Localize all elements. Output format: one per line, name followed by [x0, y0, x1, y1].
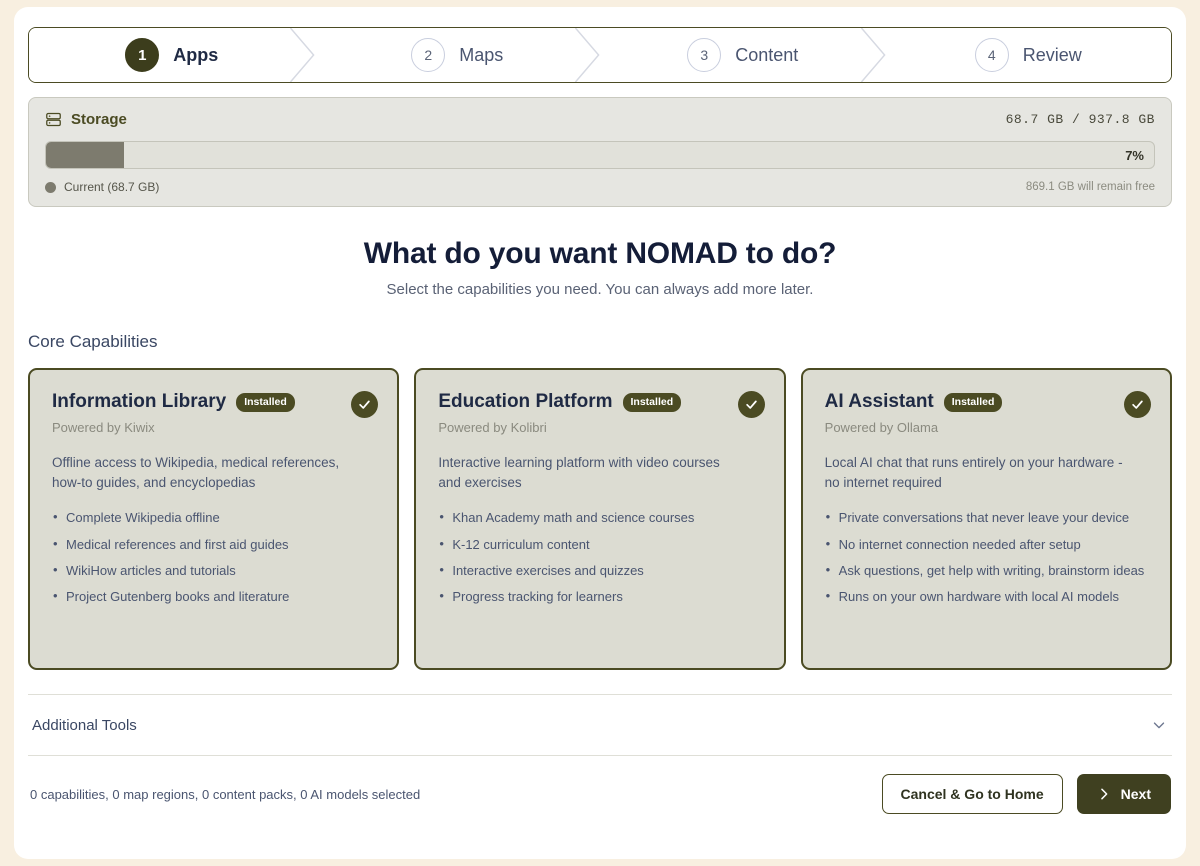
step-label: Review — [1023, 45, 1082, 66]
step-chevron-icon — [861, 28, 887, 82]
card-title: Education Platform — [438, 392, 612, 413]
wizard-footer: 0 capabilities, 0 map regions, 0 content… — [28, 774, 1172, 814]
storage-icon — [45, 111, 62, 128]
capability-card-grid: Information Library Installed Powered by… — [28, 368, 1172, 670]
footer-actions: Cancel & Go to Home Next — [882, 774, 1172, 814]
card-feature-item: Khan Academy math and science courses — [438, 509, 763, 527]
card-feature-item: Progress tracking for learners — [438, 588, 763, 606]
storage-panel: Storage 68.7 GB / 937.8 GB 7% Current (6… — [28, 97, 1172, 207]
step-maps[interactable]: 2 Maps — [315, 28, 601, 82]
storage-header: Storage — [45, 111, 127, 128]
card-feature-item: Runs on your own hardware with local AI … — [825, 588, 1150, 606]
additional-tools-label: Additional Tools — [32, 717, 137, 734]
step-chevron-icon — [575, 28, 601, 82]
capability-card-education-platform[interactable]: Education Platform Installed Powered by … — [414, 368, 785, 670]
card-powered-by: Powered by Kiwix — [52, 420, 377, 435]
step-number: 3 — [687, 38, 721, 72]
selected-check-icon[interactable] — [351, 391, 378, 418]
storage-progress-percent: 7% — [1125, 142, 1144, 168]
chevron-down-icon[interactable] — [1150, 716, 1168, 734]
card-feature-item: WikiHow articles and tutorials — [52, 562, 377, 580]
card-powered-by: Powered by Kolibri — [438, 420, 763, 435]
step-label: Apps — [173, 45, 218, 66]
wizard-page: 1 Apps 2 Maps 3 Content 4 Review — [14, 7, 1186, 859]
cancel-go-home-button[interactable]: Cancel & Go to Home — [882, 774, 1063, 814]
step-number: 2 — [411, 38, 445, 72]
card-feature-item: Medical references and first aid guides — [52, 536, 377, 554]
step-label: Content — [735, 45, 798, 66]
wizard-stepper: 1 Apps 2 Maps 3 Content 4 Review — [28, 27, 1172, 83]
installed-badge: Installed — [623, 393, 682, 412]
hero-section: What do you want NOMAD to do? Select the… — [28, 237, 1172, 298]
card-feature-item: Private conversations that never leave y… — [825, 509, 1150, 527]
next-button-label: Next — [1121, 786, 1151, 802]
storage-progress-bar: 7% — [45, 141, 1155, 169]
additional-tools-accordion[interactable]: Additional Tools — [28, 694, 1172, 756]
chevron-right-icon — [1097, 787, 1111, 801]
card-feature-item: No internet connection needed after setu… — [825, 536, 1150, 554]
card-description: Local AI chat that runs entirely on your… — [825, 453, 1131, 494]
capability-card-information-library[interactable]: Information Library Installed Powered by… — [28, 368, 399, 670]
storage-legend-label: Current (68.7 GB) — [64, 180, 159, 194]
capability-card-ai-assistant[interactable]: AI Assistant Installed Powered by Ollama… — [801, 368, 1172, 670]
card-feature-item: Project Gutenberg books and literature — [52, 588, 377, 606]
storage-title-label: Storage — [71, 111, 127, 128]
card-description: Interactive learning platform with video… — [438, 453, 744, 494]
installed-badge: Installed — [944, 393, 1003, 412]
page-title: What do you want NOMAD to do? — [28, 237, 1172, 271]
storage-progress-fill — [46, 142, 124, 168]
storage-legend: Current (68.7 GB) — [45, 180, 159, 194]
step-review[interactable]: 4 Review — [886, 28, 1172, 82]
step-content[interactable]: 3 Content — [600, 28, 886, 82]
page-subtitle: Select the capabilities you need. You ca… — [28, 281, 1172, 298]
selection-summary: 0 capabilities, 0 map regions, 0 content… — [30, 787, 420, 802]
step-apps[interactable]: 1 Apps — [29, 28, 315, 82]
storage-capacity: 68.7 GB / 937.8 GB — [1006, 112, 1155, 127]
step-chevron-icon — [290, 28, 316, 82]
card-feature-list: Private conversations that never leave y… — [825, 509, 1150, 606]
card-title: AI Assistant — [825, 392, 934, 413]
card-feature-list: Khan Academy math and science courses K-… — [438, 509, 763, 606]
card-feature-item: K-12 curriculum content — [438, 536, 763, 554]
card-description: Offline access to Wikipedia, medical ref… — [52, 453, 358, 494]
card-feature-item: Interactive exercises and quizzes — [438, 562, 763, 580]
next-button[interactable]: Next — [1077, 774, 1171, 814]
selected-check-icon[interactable] — [738, 391, 765, 418]
card-feature-item: Complete Wikipedia offline — [52, 509, 377, 527]
step-label: Maps — [459, 45, 503, 66]
card-feature-list: Complete Wikipedia offline Medical refer… — [52, 509, 377, 606]
installed-badge: Installed — [236, 393, 295, 412]
step-number: 4 — [975, 38, 1009, 72]
core-capabilities-heading: Core Capabilities — [28, 332, 1172, 352]
legend-dot-icon — [45, 182, 56, 193]
card-title: Information Library — [52, 392, 226, 413]
selected-check-icon[interactable] — [1124, 391, 1151, 418]
card-feature-item: Ask questions, get help with writing, br… — [825, 562, 1150, 580]
storage-remaining-label: 869.1 GB will remain free — [1026, 181, 1155, 193]
card-powered-by: Powered by Ollama — [825, 420, 1150, 435]
step-number: 1 — [125, 38, 159, 72]
